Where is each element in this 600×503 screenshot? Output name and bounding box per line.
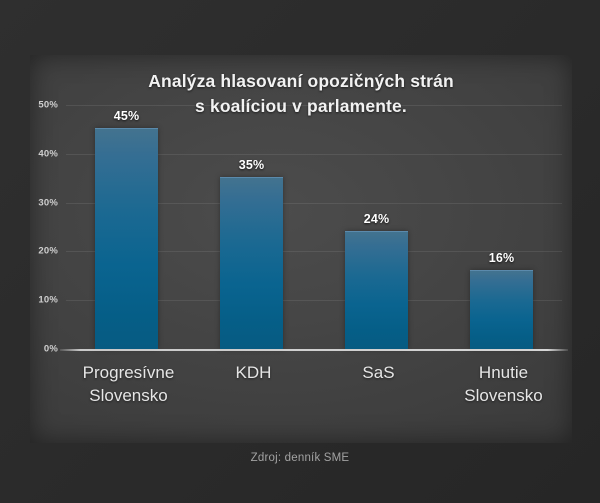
- bar-group-3[interactable]: 16%: [470, 105, 533, 349]
- bar-progresivne-slovensko[interactable]: [95, 128, 158, 349]
- x-axis-label-1-line-1: KDH: [191, 361, 316, 384]
- bar-value-label-1: 35%: [239, 158, 265, 172]
- x-axis-label-sas: SaS: [316, 361, 441, 384]
- bar-sas[interactable]: [345, 231, 408, 349]
- chart-plot-area: 50% 40% 30% 20% 10% 0% 45% 35% 24%: [66, 105, 562, 349]
- x-axis-label-hnutie-slovensko: Hnutie Slovensko: [441, 361, 566, 407]
- chart-canvas: Analýza hlasovaní opozičných strán s koa…: [0, 0, 600, 503]
- chart-title-line-1: Analýza hlasovaní opozičných strán: [30, 69, 572, 94]
- y-axis-tick-40: 40%: [38, 148, 58, 159]
- chart-plot-panel: Analýza hlasovaní opozičných strán s koa…: [30, 55, 572, 443]
- y-axis-tick-50: 50%: [38, 100, 58, 111]
- bar-value-label-0: 45%: [114, 109, 140, 123]
- bar-value-label-3: 16%: [489, 251, 515, 265]
- x-axis-label-kdh: KDH: [191, 361, 316, 384]
- x-axis-label-0-line-1: Progresívne: [66, 361, 191, 384]
- bar-value-label-2: 24%: [364, 212, 390, 226]
- bar-hnutie-slovensko[interactable]: [470, 270, 533, 349]
- x-axis-baseline: [60, 349, 568, 351]
- bar-group-0[interactable]: 45%: [95, 105, 158, 349]
- y-axis-tick-0: 0%: [44, 344, 58, 355]
- x-axis-label-0-line-2: Slovensko: [66, 384, 191, 407]
- x-axis-label-progresivne-slovensko: Progresívne Slovensko: [66, 361, 191, 407]
- y-axis-tick-10: 10%: [38, 295, 58, 306]
- x-axis-label-2-line-1: SaS: [316, 361, 441, 384]
- y-axis-tick-20: 20%: [38, 246, 58, 257]
- bar-kdh[interactable]: [220, 177, 283, 349]
- bar-group-1[interactable]: 35%: [220, 105, 283, 349]
- x-axis-label-3-line-1: Hnutie: [441, 361, 566, 384]
- x-axis-label-3-line-2: Slovensko: [441, 384, 566, 407]
- y-axis-tick-30: 30%: [38, 197, 58, 208]
- source-note: Zdroj: denník SME: [0, 452, 600, 464]
- bar-group-2[interactable]: 24%: [345, 105, 408, 349]
